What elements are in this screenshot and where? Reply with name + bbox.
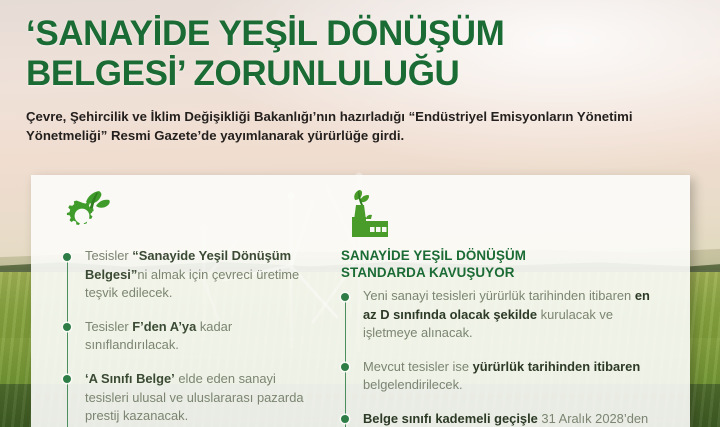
list-item: Belge sınıfı kademeli geçişle 31 Aralık … — [341, 410, 666, 427]
content-card: Tesisler “Sanayide Yeşil Dönüşüm Belgesi… — [31, 175, 690, 427]
list-item: Tesisler “Sanayide Yeşil Dönüşüm Belgesi… — [63, 247, 313, 303]
header: ‘SANAYİDE YEŞİL DÖNÜŞÜM BELGESİ’ ZORUNLU… — [0, 0, 720, 145]
card-column-left: Tesisler “Sanayide Yeşil Dönüşüm Belgesi… — [31, 189, 331, 427]
list-item: Yeni sanayi tesisleri yürürlük tarihinde… — [341, 287, 666, 343]
gear-leaf-icon — [63, 189, 313, 247]
list-item: ‘A Sınıfı Belge’ elde eden sanayi tesisl… — [63, 370, 313, 426]
page-subtitle: Çevre, Şehircilik ve İklim Değişikliği B… — [26, 108, 636, 145]
page-title-line-1: ‘SANAYİDE YEŞİL DÖNÜŞÜM — [26, 14, 694, 54]
list-item: Mevcut tesisler ise yürürlük tarihinden … — [341, 358, 666, 395]
left-bullet-list: Tesisler “Sanayide Yeşil Dönüşüm Belgesi… — [63, 247, 313, 426]
page-title: ‘SANAYİDE YEŞİL DÖNÜŞÜM BELGESİ’ ZORUNLU… — [26, 14, 694, 94]
right-bullet-list: Yeni sanayi tesisleri yürürlük tarihinde… — [341, 287, 666, 427]
page-title-line-2: BELGESİ’ ZORUNLULUĞU — [26, 54, 694, 94]
card-column-right: SANAYİDE YEŞİL DÖNÜŞÜM STANDARDA KAVUŞUY… — [331, 189, 690, 427]
factory-leaf-icon — [341, 189, 666, 247]
list-item: Tesisler F’den A’ya kadar sınıflandırıla… — [63, 318, 313, 355]
right-section-heading: SANAYİDE YEŞİL DÖNÜŞÜM STANDARDA KAVUŞUY… — [341, 247, 666, 281]
right-heading-line-2: STANDARDA KAVUŞUYOR — [341, 264, 666, 281]
right-heading-line-1: SANAYİDE YEŞİL DÖNÜŞÜM — [341, 247, 666, 264]
